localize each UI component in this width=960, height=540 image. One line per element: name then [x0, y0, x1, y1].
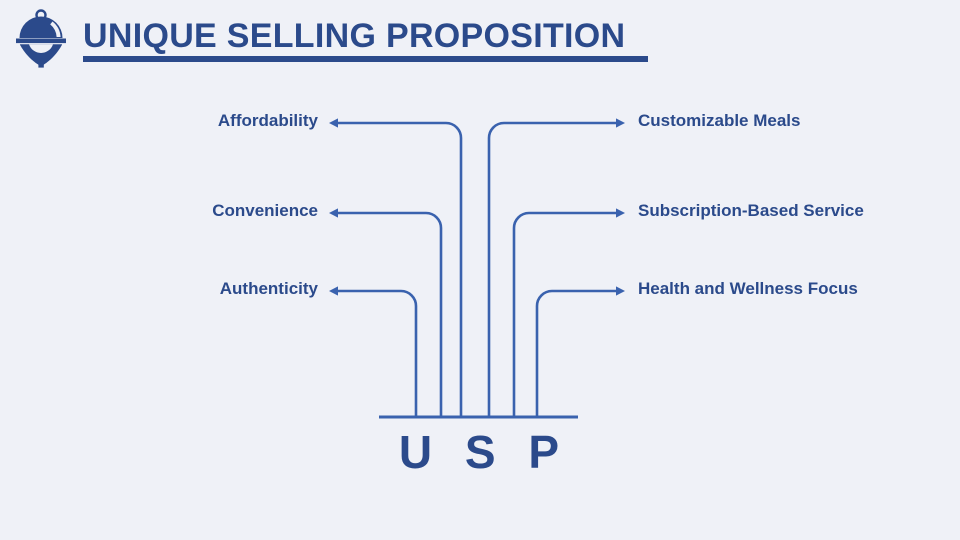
slide-canvas: UNIQUE SELLING PROPOSITION [0, 0, 960, 540]
connector-subscription-based-service [514, 213, 620, 417]
right-arrow-icon [616, 208, 625, 217]
page-title: UNIQUE SELLING PROPOSITION [83, 17, 625, 55]
food-cloche-location-pin-icon [12, 8, 70, 70]
branch-label-convenience[interactable]: Convenience [212, 201, 318, 221]
branch-label-customizable-meals[interactable]: Customizable Meals [638, 111, 801, 131]
connector-convenience [334, 213, 441, 417]
usp-funnel-diagram: Affordability Convenience Authenticity C… [0, 80, 960, 540]
slide-header: UNIQUE SELLING PROPOSITION [0, 0, 960, 80]
title-underline [83, 56, 648, 62]
branch-label-subscription-based-service[interactable]: Subscription-Based Service [638, 201, 864, 221]
left-arrow-icon [329, 286, 338, 295]
left-arrow-icon [329, 208, 338, 217]
connector-health-and-wellness-focus [537, 291, 620, 417]
connector-customizable-meals [489, 123, 620, 417]
right-arrow-icon [616, 286, 625, 295]
branch-label-authenticity[interactable]: Authenticity [220, 279, 318, 299]
right-arrow-icon [616, 118, 625, 127]
left-arrow-icon [329, 118, 338, 127]
connector-authenticity [334, 291, 416, 417]
branch-label-health-and-wellness-focus[interactable]: Health and Wellness Focus [638, 279, 858, 299]
usp-acronym: U S P [379, 425, 579, 479]
branch-label-affordability[interactable]: Affordability [218, 111, 318, 131]
